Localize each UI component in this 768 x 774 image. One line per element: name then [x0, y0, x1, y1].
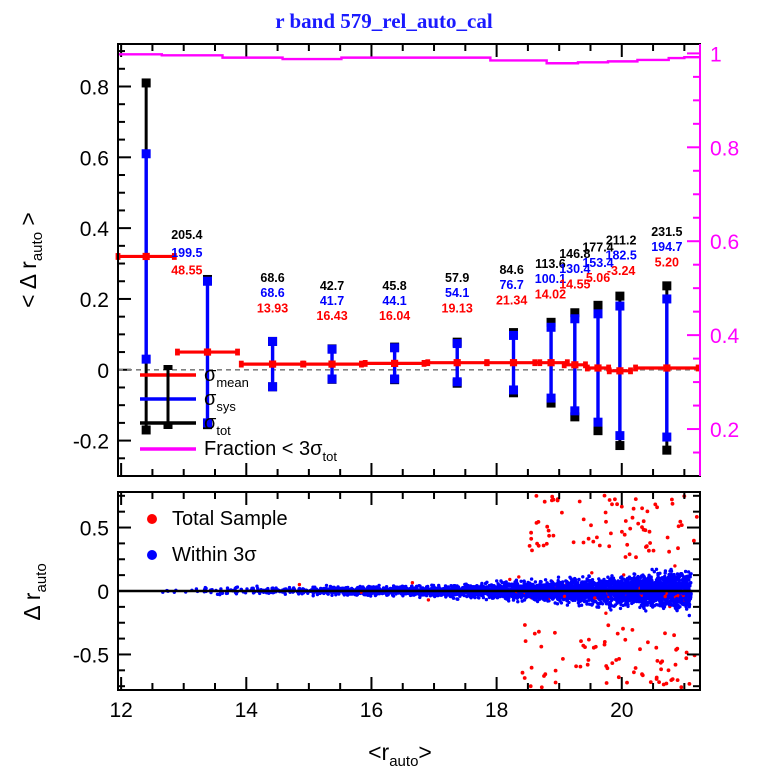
- scatter-point: [666, 580, 669, 583]
- x-title-text: <rauto>: [368, 739, 432, 770]
- scatter-point-outlier: [646, 640, 650, 644]
- scatter-point: [596, 587, 599, 590]
- scatter-point-outlier: [594, 645, 598, 649]
- sigma-mean-cap-right: [628, 367, 633, 374]
- scatter-point: [550, 584, 553, 587]
- sigma-sys-cap-upper: [268, 337, 277, 346]
- scatter-point: [675, 597, 678, 600]
- scatter-point: [400, 592, 403, 595]
- sigma-sys-cap-lower: [268, 382, 277, 391]
- scatter-point: [666, 577, 669, 580]
- scatter-point-outlier: [545, 525, 549, 529]
- scatter-point: [663, 575, 666, 578]
- scatter-point: [620, 582, 623, 585]
- scatter-point: [456, 598, 459, 601]
- scatter-point: [613, 586, 616, 589]
- scatter-point-outlier: [675, 647, 679, 651]
- scatter-point-outlier: [529, 531, 533, 535]
- scatter-point: [598, 597, 601, 600]
- label-sigma-tot: 45.8: [382, 279, 406, 293]
- sigma-tot-cap-upper: [615, 292, 624, 301]
- scatter-point: [601, 602, 604, 605]
- scatter-point: [591, 584, 594, 587]
- scatter-point: [524, 585, 527, 588]
- scatter-point-outlier: [553, 631, 557, 635]
- scatter-point: [545, 581, 548, 584]
- scatter-point-outlier: [646, 510, 650, 514]
- scatter-point-outlier: [537, 630, 541, 634]
- scatter-point: [595, 605, 598, 608]
- scatter-point: [598, 579, 601, 582]
- scatter-point-outlier: [666, 536, 670, 540]
- scatter-point-outlier: [613, 497, 617, 501]
- scatter-point: [418, 593, 421, 596]
- scatter-point: [376, 592, 379, 595]
- scatter-point: [522, 579, 525, 582]
- scatter-point-outlier: [616, 632, 620, 636]
- scatter-point-outlier: [648, 530, 652, 534]
- scatter-point: [641, 580, 644, 583]
- scatter-point: [669, 568, 672, 571]
- scatter-point: [571, 578, 574, 581]
- mean-marker: [143, 253, 150, 260]
- scatter-point: [616, 596, 619, 599]
- scatter-point: [534, 598, 537, 601]
- scatter-point-outlier: [671, 502, 675, 506]
- scatter-point: [588, 593, 591, 596]
- plot-title: r band 579_rel_auto_cal: [275, 9, 493, 33]
- scatter-point-outlier: [614, 658, 618, 662]
- scatter-point: [670, 592, 673, 595]
- scatter-point: [443, 593, 446, 596]
- scatter-point: [588, 603, 591, 606]
- scatter-point: [684, 570, 687, 573]
- scatter-point-outlier: [595, 536, 599, 540]
- scatter-point: [528, 595, 531, 598]
- scatter-point: [535, 585, 538, 588]
- scatter-point: [608, 578, 611, 581]
- scatter-point: [656, 579, 659, 582]
- scatter-point: [577, 585, 580, 588]
- label-sigma-tot: 211.2: [606, 233, 637, 247]
- scatter-point-outlier: [623, 638, 627, 642]
- scatter-point: [543, 598, 546, 601]
- y-tick-label: 0.8: [80, 76, 109, 99]
- scatter-point: [657, 593, 660, 596]
- scatter-point: [546, 599, 549, 602]
- scatter-point-outlier: [628, 552, 632, 556]
- scatter-point: [446, 593, 449, 596]
- y-title-group: < Δ rauto >: [15, 212, 46, 308]
- scatter-point: [664, 571, 667, 574]
- scatter-point-outlier: [638, 647, 642, 651]
- sigma-sys-cap-upper: [615, 302, 624, 311]
- scatter-point-outlier: [554, 669, 558, 673]
- y-tick-label: 0.2: [80, 289, 109, 312]
- legend-label: Within 3σ: [172, 544, 257, 566]
- scatter-point: [236, 585, 239, 588]
- scatter-point-outlier: [552, 534, 556, 538]
- scatter-point-outlier: [642, 519, 646, 523]
- y-title-text: Δ rauto: [19, 563, 50, 620]
- scatter-point: [558, 596, 561, 599]
- label-sigma-sys: 44.1: [382, 294, 406, 308]
- scatter-point: [534, 592, 537, 595]
- legend-dot: [147, 514, 157, 524]
- scatter-point-outlier: [543, 500, 547, 504]
- scatter-point-outlier: [644, 545, 648, 549]
- mean-marker: [510, 359, 517, 366]
- scatter-point: [578, 604, 581, 607]
- scatter-point: [674, 606, 677, 609]
- scatter-point: [687, 595, 690, 598]
- scatter-point: [689, 575, 692, 578]
- y-title-text: < Δ rauto >: [15, 212, 46, 308]
- x-tick-label: 12: [109, 699, 132, 722]
- scatter-point-outlier: [632, 507, 636, 511]
- label-sigma-sys: 76.7: [499, 278, 523, 292]
- scatter-point-outlier: [671, 677, 675, 681]
- sigma-tot-cap-lower: [593, 426, 602, 435]
- scatter-point: [626, 605, 629, 608]
- scatter-point-outlier: [537, 544, 541, 548]
- scatter-point: [631, 584, 634, 587]
- scatter-point: [678, 584, 681, 587]
- scatter-point: [674, 578, 677, 581]
- x-tick-label: 16: [360, 699, 383, 722]
- legend-connector-cap-top: [164, 365, 173, 370]
- sigma-mean-cap-left: [239, 361, 244, 368]
- scatter-point: [559, 599, 562, 602]
- scatter-point-outlier: [579, 639, 583, 643]
- sigma-sys-cap-lower: [615, 431, 624, 440]
- label-sigma-mean: 16.04: [379, 309, 410, 323]
- scatter-point-outlier: [625, 543, 629, 547]
- scatter-point: [654, 581, 657, 584]
- scatter-point: [651, 605, 654, 608]
- scatter-point: [596, 594, 599, 597]
- scatter-point-outlier: [634, 555, 638, 559]
- scatter-point-outlier: [542, 674, 546, 678]
- scatter-point: [651, 593, 654, 596]
- scatter-point: [640, 604, 643, 607]
- scatter-point: [411, 592, 414, 595]
- y-title-group: Δ rauto: [19, 563, 50, 620]
- sigma-sys-cap-lower: [453, 377, 462, 386]
- scatter-point: [689, 581, 692, 584]
- scatter-point: [608, 606, 611, 609]
- scatter-point: [587, 574, 590, 577]
- scatter-point: [519, 580, 522, 583]
- label-sigma-tot: 205.4: [171, 228, 202, 242]
- scatter-point: [602, 578, 605, 581]
- scatter-point-outlier: [582, 518, 586, 522]
- scatter-point: [624, 596, 627, 599]
- scatter-point-outlier: [529, 684, 533, 688]
- scatter-point: [584, 585, 587, 588]
- label-sigma-sys: 199.5: [171, 246, 202, 260]
- scatter-point: [489, 595, 492, 598]
- scatter-point: [619, 607, 622, 610]
- scatter-point: [499, 579, 502, 582]
- x-tick-label: 14: [235, 699, 259, 722]
- sigma-tot-cap-lower: [615, 441, 624, 450]
- scatter-point: [362, 587, 365, 590]
- scatter-point: [469, 596, 472, 599]
- scatter-point: [656, 572, 659, 575]
- scatter-point-outlier: [667, 668, 671, 672]
- scatter-point: [641, 573, 644, 576]
- mean-marker: [571, 361, 578, 368]
- scatter-point: [591, 602, 594, 605]
- scatter-point: [554, 601, 557, 604]
- scatter-point-outlier: [660, 659, 664, 663]
- label-sigma-sys: 194.7: [651, 240, 682, 254]
- label-sigma-tot: 84.6: [499, 263, 523, 277]
- y-tick-label: 0: [97, 581, 109, 604]
- y-tick-label: -0.2: [73, 431, 109, 454]
- sigma-sys-cap-upper: [509, 331, 518, 340]
- scatter-point-outlier: [670, 498, 674, 502]
- scatter-point: [674, 575, 677, 578]
- scatter-point-outlier: [547, 534, 551, 538]
- scatter-point: [618, 586, 621, 589]
- scatter-point-outlier: [587, 537, 591, 541]
- scatter-point: [437, 584, 440, 587]
- scatter-point-outlier: [623, 533, 627, 537]
- scatter-point-outlier: [628, 527, 632, 531]
- scatter-point: [552, 596, 555, 599]
- scatter-point: [496, 582, 499, 585]
- scatter-point: [658, 604, 661, 607]
- mean-marker: [391, 360, 398, 367]
- scatter-point: [577, 578, 580, 581]
- scatter-point: [574, 594, 577, 597]
- scatter-point: [520, 595, 523, 598]
- scatter-point: [624, 578, 627, 581]
- label-sigma-mean: 48.55: [171, 264, 202, 278]
- sigma-sys-cap-lower: [662, 433, 671, 442]
- scatter-point: [643, 594, 646, 597]
- scatter-point-outlier: [545, 542, 549, 546]
- label-sigma-mean: 21.34: [496, 293, 527, 307]
- scatter-point: [643, 600, 646, 603]
- scatter-point-outlier: [578, 500, 582, 504]
- scatter-point: [544, 578, 547, 581]
- scatter-point: [679, 595, 682, 598]
- scatter-point-outlier: [610, 502, 614, 506]
- scatter-point: [671, 576, 674, 579]
- scatter-point: [415, 585, 418, 588]
- scatter-point: [472, 585, 475, 588]
- scatter-point-outlier: [632, 670, 636, 674]
- scatter-point: [492, 593, 495, 596]
- scatter-point: [680, 573, 683, 576]
- scatter-point: [609, 602, 612, 605]
- scatter-point-outlier: [657, 680, 661, 684]
- scatter-point-outlier: [655, 676, 659, 680]
- scatter-point: [505, 597, 508, 600]
- scatter-point: [636, 577, 639, 580]
- scatter-point: [673, 564, 676, 567]
- scatter-point: [573, 597, 576, 600]
- scatter-point: [665, 586, 668, 589]
- x-tick-label: 18: [485, 699, 508, 722]
- scatter-point: [344, 586, 347, 589]
- scatter-point: [646, 603, 649, 606]
- scatter-point: [640, 600, 643, 603]
- scatter-point: [363, 592, 366, 595]
- scatter-point-outlier: [581, 644, 585, 648]
- scatter-point-outlier: [552, 498, 556, 502]
- scatter-point: [675, 609, 678, 612]
- scatter-point-outlier: [647, 549, 651, 553]
- sigma-sys-cap-lower: [509, 385, 518, 394]
- sigma-mean-cap-left: [562, 361, 567, 368]
- scatter-point: [298, 583, 301, 586]
- scatter-point-outlier: [574, 664, 578, 668]
- scatter-point-outlier: [605, 681, 609, 685]
- scatter-point: [485, 581, 488, 584]
- right-tick-label: 0.8: [710, 137, 739, 160]
- scatter-point-outlier: [678, 520, 682, 524]
- scatter-point-outlier: [606, 623, 610, 627]
- scatter-point: [650, 568, 653, 571]
- scatter-point: [516, 600, 519, 603]
- scatter-point: [662, 607, 665, 610]
- scatter-point: [410, 585, 413, 588]
- scatter-point: [612, 605, 615, 608]
- scatter-point: [495, 592, 498, 595]
- sigma-sys-cap-lower: [570, 406, 579, 415]
- scatter-point: [411, 581, 414, 584]
- scatter-point: [667, 596, 670, 599]
- scatter-point-outlier: [607, 544, 611, 548]
- scatter-point: [660, 577, 663, 580]
- scatter-point: [426, 585, 429, 588]
- sigma-mean-cap-left: [607, 367, 612, 374]
- scatter-point: [633, 573, 636, 576]
- scatter-point: [596, 583, 599, 586]
- scatter-point-outlier: [636, 522, 640, 526]
- scatter-point: [654, 585, 657, 588]
- right-tick-label: 0.4: [710, 325, 740, 348]
- scatter-point: [632, 601, 635, 604]
- scatter-point-outlier: [617, 675, 621, 679]
- scatter-point: [669, 586, 672, 589]
- scatter-point-outlier: [654, 646, 658, 650]
- sigma-tot-cap-lower: [142, 425, 151, 434]
- scatter-point: [463, 592, 466, 595]
- scatter-point-outlier: [621, 627, 625, 631]
- scatter-point: [659, 600, 662, 603]
- mean-marker: [663, 364, 670, 371]
- scatter-point-outlier: [530, 549, 534, 553]
- scatter-point: [424, 592, 427, 595]
- scatter-point: [657, 597, 660, 600]
- scatter-point: [530, 585, 533, 588]
- scatter-point: [680, 599, 683, 602]
- scatter-point: [604, 612, 607, 615]
- mean-marker: [204, 348, 211, 355]
- scatter-point: [604, 595, 607, 598]
- scatter-point: [650, 575, 653, 578]
- label-sigma-mean: 19.13: [442, 301, 473, 315]
- scatter-point-outlier: [667, 550, 671, 554]
- scatter-point-outlier: [641, 673, 645, 677]
- sigma-mean-cap-right: [235, 349, 240, 356]
- x-axis-title: <rauto>: [368, 739, 432, 770]
- label-sigma-mean: 16.43: [316, 309, 347, 323]
- sigma-sys-cap-upper: [328, 345, 337, 354]
- scatter-point-outlier: [579, 665, 583, 669]
- mean-marker: [328, 361, 335, 368]
- scatter-point-outlier: [609, 532, 613, 536]
- right-tick-label: 0.2: [710, 419, 739, 442]
- sigma-tot-cap-lower: [662, 446, 671, 455]
- mean-marker: [547, 359, 554, 366]
- scatter-point-outlier: [591, 540, 595, 544]
- scatter-point-outlier: [663, 631, 667, 635]
- right-tick-label: 1: [710, 43, 722, 66]
- scatter-point: [435, 592, 438, 595]
- mean-marker: [454, 359, 461, 366]
- scatter-point: [502, 586, 505, 589]
- scatter-point: [620, 575, 623, 578]
- sigma-sys-cap-lower: [390, 374, 399, 383]
- scatter-point: [343, 593, 346, 596]
- right-tick-label: 0.6: [710, 231, 739, 254]
- scatter-point: [300, 592, 303, 595]
- legend-label: Total Sample: [172, 508, 288, 530]
- scatter-point: [676, 572, 679, 575]
- label-sigma-sys: 54.1: [445, 286, 469, 300]
- scatter-point: [513, 580, 516, 583]
- scatter-point-outlier: [620, 530, 624, 534]
- scatter-point: [650, 580, 653, 583]
- scatter-point-outlier: [676, 546, 680, 550]
- scatter-point-outlier: [631, 628, 635, 632]
- scatter-point-outlier: [674, 663, 678, 667]
- scatter-point-outlier: [625, 681, 629, 685]
- scatter-point: [369, 594, 372, 597]
- scatter-point: [557, 576, 560, 579]
- sigma-sys-cap-upper: [570, 314, 579, 323]
- sigma-mean-cap-left: [485, 359, 490, 366]
- scatter-point: [590, 571, 593, 574]
- sigma-sys-cap-upper: [547, 323, 556, 332]
- scatter-point: [630, 598, 633, 601]
- scatter-point-outlier: [547, 529, 551, 533]
- scatter-point: [585, 577, 588, 580]
- scatter-point-outlier: [620, 505, 624, 509]
- scatter-point: [664, 595, 667, 598]
- scatter-point-outlier: [586, 663, 590, 667]
- scatter-point-outlier: [659, 667, 663, 671]
- label-sigma-tot: 57.9: [445, 271, 469, 285]
- scatter-point: [569, 584, 572, 587]
- scatter-point: [583, 599, 586, 602]
- scatter-point: [609, 585, 612, 588]
- scatter-point-outlier: [523, 676, 527, 680]
- scatter-point: [517, 575, 520, 578]
- sigma-tot-cap-upper: [142, 78, 151, 87]
- label-sigma-sys: 41.7: [320, 294, 344, 308]
- scatter-point-outlier: [554, 681, 558, 685]
- scatter-point: [612, 581, 615, 584]
- scatter-point-outlier: [656, 659, 660, 663]
- scatter-point: [538, 582, 541, 585]
